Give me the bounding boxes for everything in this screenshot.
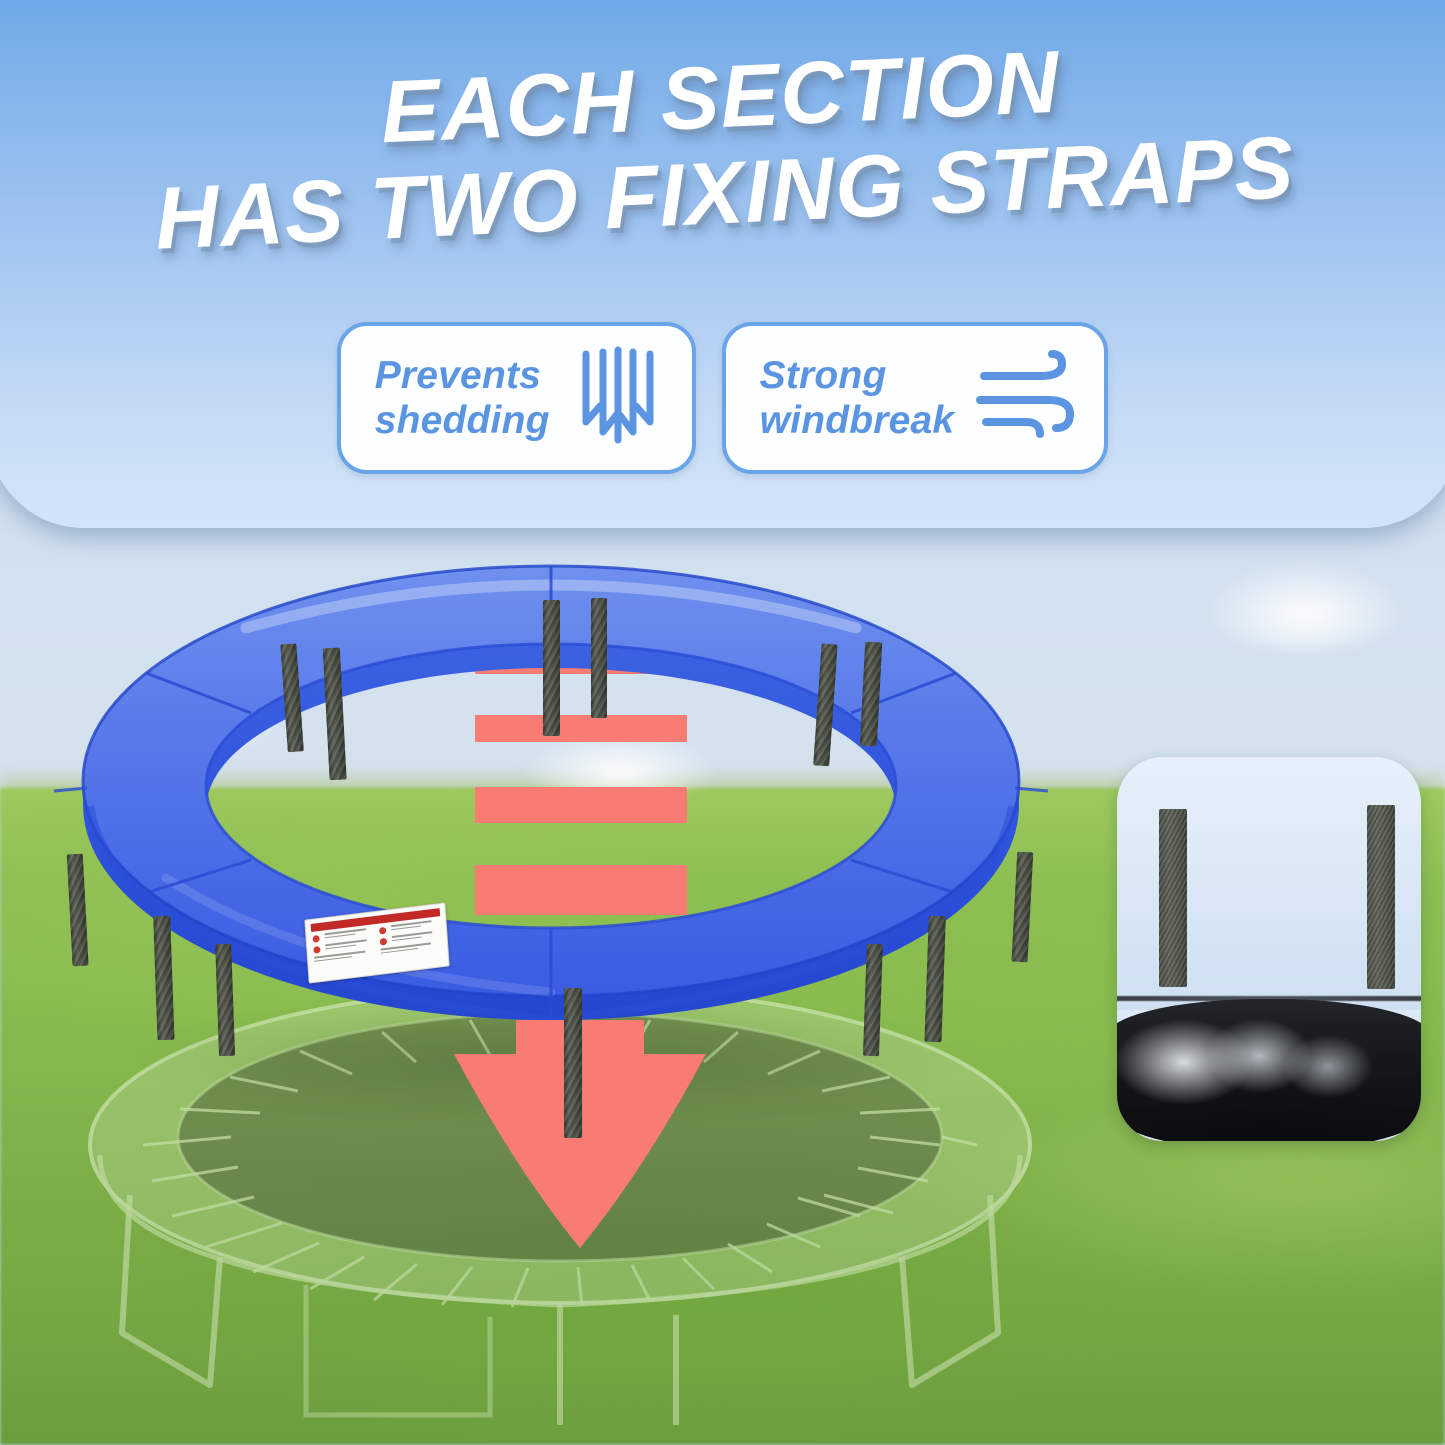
badge-strong-windbreak-label: Strong windbreak <box>760 353 955 443</box>
down-arrows-icon <box>570 344 666 453</box>
badge-strong-windbreak[interactable]: Strong windbreak <box>722 322 1109 474</box>
wind-icon <box>974 348 1078 449</box>
inset-pad-underside <box>1117 999 1421 1141</box>
inset-strap-right <box>1367 805 1395 989</box>
infographic-canvas: EACH SECTION HAS TWO FIXING STRAPS Preve… <box>0 0 1445 1445</box>
badge-prevents-shedding-label: Prevents shedding <box>375 353 550 443</box>
fixing-straps-group <box>46 548 1056 1148</box>
feature-badge-row: Prevents shedding Strong windbreak <box>0 322 1445 474</box>
strap-detail-closeup <box>1117 757 1421 1141</box>
cloud-icon <box>1200 560 1410 650</box>
badge-prevents-shedding[interactable]: Prevents shedding <box>337 322 696 474</box>
inset-strap-left <box>1159 809 1187 987</box>
